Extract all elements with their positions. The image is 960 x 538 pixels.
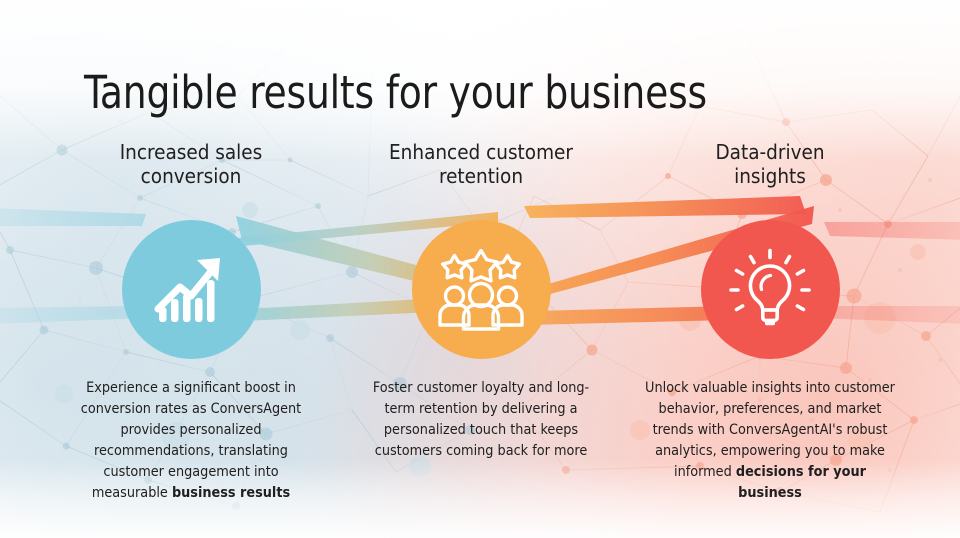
feature-column-data-driven-insights: Data-driven insights: [620, 140, 920, 504]
feature-icon-slot-data-driven-insights: [620, 202, 920, 362]
feature-column-increased-sales-conversion: Increased sales conversion: [41, 140, 341, 504]
feature-icon-slot-enhanced-customer-retention: [331, 202, 631, 362]
feature-icon-circle-increased-sales-conversion[interactable]: [122, 220, 261, 359]
feature-icon-circle-data-driven-insights[interactable]: [701, 220, 840, 359]
lightbulb-idea-icon: [728, 248, 812, 332]
feature-heading-enhanced-customer-retention: Enhanced customer retention: [356, 140, 606, 188]
feature-icon-slot-increased-sales-conversion: [41, 202, 341, 362]
feature-icon-circle-enhanced-customer-retention[interactable]: [412, 220, 551, 359]
feature-column-enhanced-customer-retention: Enhanced customer retention: [331, 140, 631, 462]
bar-chart-growth-arrow-icon: [150, 249, 232, 331]
feature-heading-line2: retention: [356, 164, 606, 188]
feature-heading-line1: Data-driven: [645, 140, 895, 164]
feature-body-text: Foster customer loyalty and long-term re…: [373, 380, 589, 459]
feature-heading-data-driven-insights: Data-driven insights: [645, 140, 895, 188]
feature-body-enhanced-customer-retention: Foster customer loyalty and long-term re…: [362, 378, 600, 461]
feature-heading-line1: Enhanced customer: [356, 140, 606, 164]
feature-heading-line2: insights: [645, 164, 895, 188]
feature-heading-increased-sales-conversion: Increased sales conversion: [66, 140, 316, 188]
feature-heading-line2: conversion: [66, 164, 316, 188]
users-group-stars-icon: [437, 249, 525, 331]
feature-body-increased-sales-conversion: Experience a significant boost in conver…: [70, 378, 312, 503]
feature-body-text: Experience a significant boost in conver…: [81, 380, 301, 500]
feature-body-emphasis: business results: [172, 485, 290, 501]
page-title: Tangible results for your business: [84, 66, 707, 119]
slide-canvas: Tangible results for your business Incre…: [0, 0, 960, 538]
feature-body-emphasis: decisions for your business: [736, 464, 866, 501]
feature-body-data-driven-insights: Unlock valuable insights into customer b…: [645, 378, 895, 503]
feature-heading-line1: Increased sales: [66, 140, 316, 164]
